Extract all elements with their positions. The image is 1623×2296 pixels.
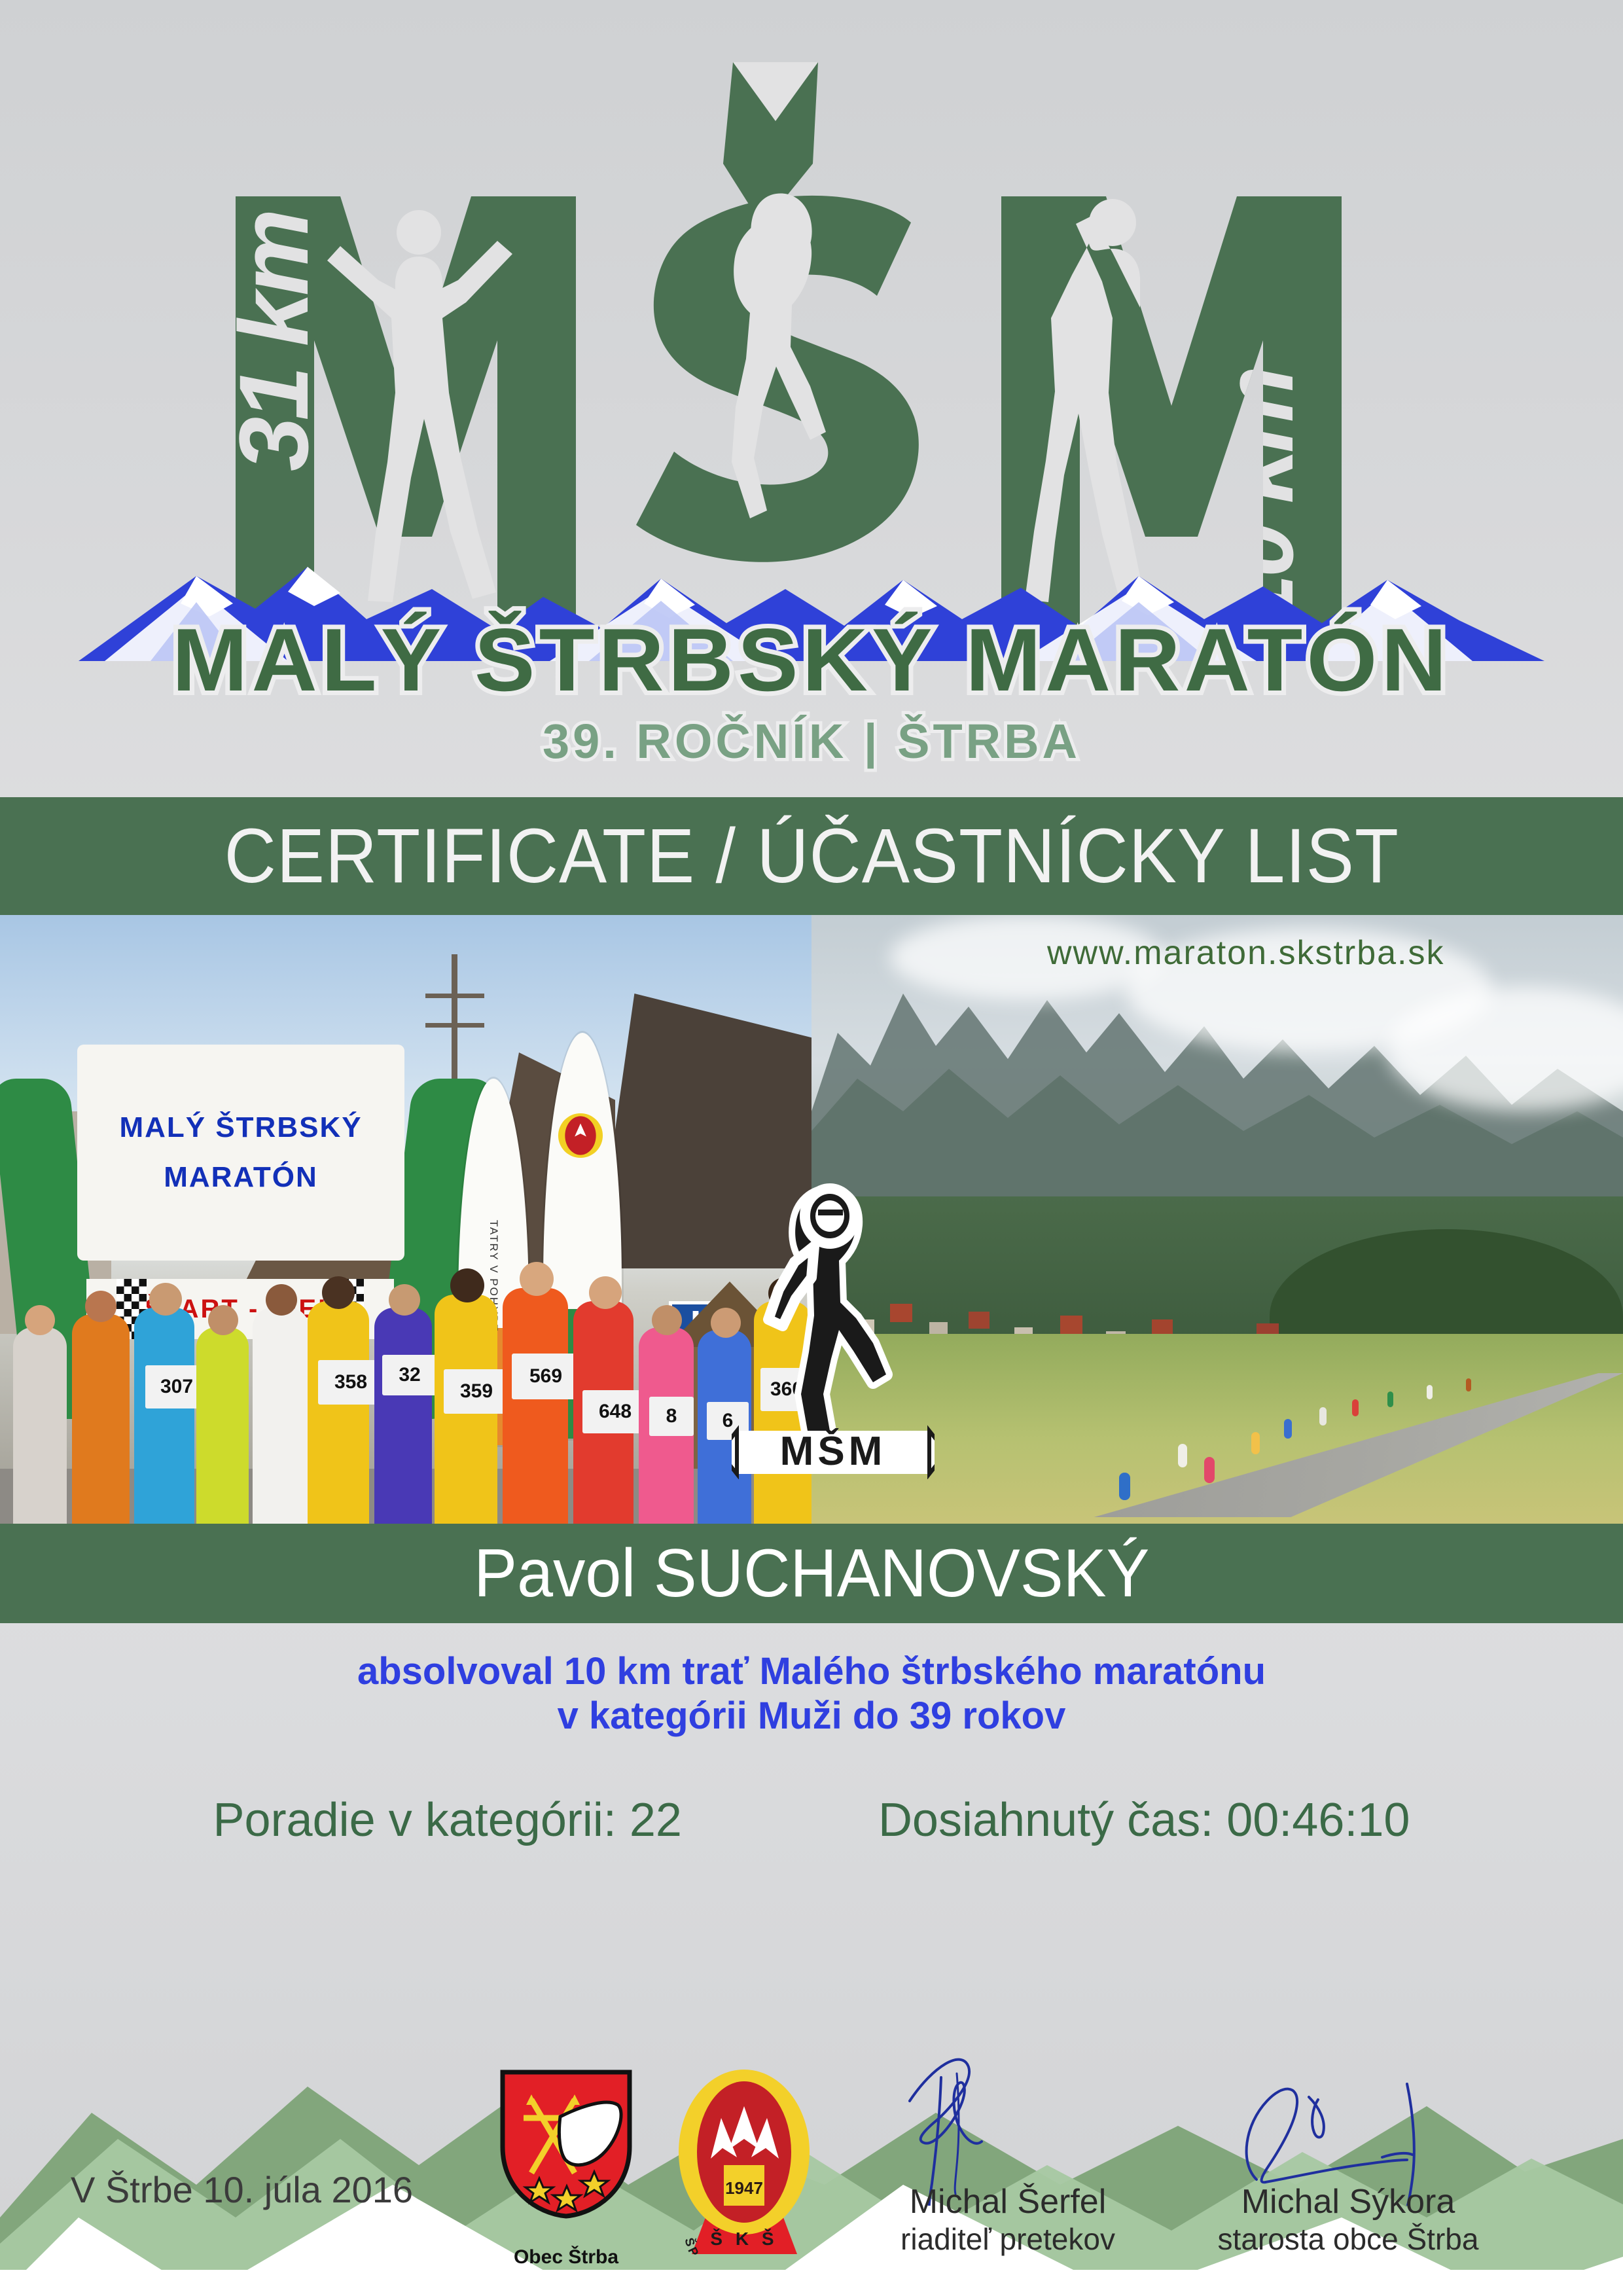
road-runner (1466, 1378, 1471, 1391)
athlete-name-banner: Pavol SUCHANOVSKÝ (0, 1524, 1623, 1623)
signature-name: Michal Šerfel (870, 2182, 1145, 2221)
crest-obec-caption: Obec Štrba (497, 2246, 635, 2269)
msm-runner-sticker: MŠM (732, 1178, 935, 1479)
crest-sks-year: 1947 (725, 2178, 763, 2198)
road-runner (1387, 1391, 1393, 1407)
svg-text:MŠM: MŠM (780, 1429, 887, 1474)
arch-banner: MALÝ ŠTRBSKÝ MARATÓN (77, 1045, 404, 1261)
signature-role: starosta obce Štrba (1211, 2221, 1486, 2257)
arch-line2: MARATÓN (164, 1161, 318, 1194)
bib-number: 569 (512, 1354, 580, 1399)
achievement-text: absolvoval 10 km trať Malého štrbského m… (0, 1649, 1623, 1739)
certificate-footer: V Štrbe 10. júla 2016 . (0, 2060, 1623, 2296)
crest-sks: 1947 ŠTRBA ŠPORTOVÝ KLUB Š K Š (674, 2066, 815, 2249)
road-runner (1352, 1399, 1359, 1416)
achievement-line2: v kategórii Muži do 39 rokov (0, 1694, 1623, 1738)
certificate-title-banner: CERTIFICATE / ÚČASTNÍCKY LIST (0, 797, 1623, 915)
certificate-title: CERTIFICATE / ÚČASTNÍCKY LIST (224, 812, 1399, 901)
road-runner (1319, 1407, 1327, 1426)
road-runner (1284, 1419, 1292, 1439)
signature-block-race-director: Michal Šerfel riaditeľ pretekov (870, 2182, 1145, 2257)
bib-number: 32 (382, 1355, 437, 1395)
issue-date: V Štrbe 10. júla 2016 (71, 2168, 413, 2211)
arch-line1: MALÝ ŠTRBSKÝ (119, 1111, 362, 1144)
road-runner (1251, 1432, 1260, 1454)
road-runner (1204, 1457, 1215, 1483)
road-runner (1427, 1385, 1433, 1399)
finish-time: Dosiahnutý čas: 00:46:10 (878, 1793, 1410, 1847)
bib-number: 359 (444, 1369, 509, 1414)
rank-in-category: Poradie v kategórii: 22 (213, 1793, 682, 1847)
bib-number: 8 (649, 1397, 694, 1436)
certificate-page: 31 km 10 km (0, 0, 1623, 2296)
signature-name: Michal Sýkora (1211, 2182, 1486, 2221)
logo-distance-left: 31 km (219, 212, 329, 471)
achievement-line1: absolvoval 10 km trať Malého štrbského m… (357, 1650, 1266, 1693)
athlete-name: Pavol SUCHANOVSKÝ (474, 1535, 1149, 1613)
power-crossarm (425, 994, 484, 998)
photo-start-line: MALÝ ŠTRBSKÝ MARATÓN ŠTART - CIEĽ TATRY … (0, 915, 811, 1524)
bib-number: 648 (582, 1390, 648, 1433)
power-crossarm-2 (425, 1023, 484, 1028)
road-runner (1178, 1444, 1187, 1467)
msm-sticker-wordmark: MŠM (732, 1429, 935, 1474)
event-edition: 39. ROČNÍK | ŠTRBA (543, 713, 1080, 769)
crest-sks-bottom-label: Š K Š (710, 2228, 777, 2249)
event-name: MALÝ ŠTRBSKÝ MARATÓN (172, 609, 1451, 711)
crest-obec-strba: . Obec Štrba (497, 2068, 635, 2245)
results-row: Poradie v kategórii: 22 Dosiahnutý čas: … (0, 1793, 1623, 1847)
signature-role: riaditeľ pretekov (870, 2221, 1145, 2257)
signature-block-mayor: Michal Sýkora starosta obce Štrba (1211, 2182, 1486, 2257)
runner-crowd: 307 358 32 359 569 648 (0, 1280, 811, 1524)
bib-number: 358 (318, 1360, 383, 1405)
road-runner (1119, 1473, 1130, 1500)
website-url[interactable]: www.maraton.skstrba.sk (1047, 933, 1445, 973)
event-logo: 31 km 10 km (0, 0, 1623, 795)
